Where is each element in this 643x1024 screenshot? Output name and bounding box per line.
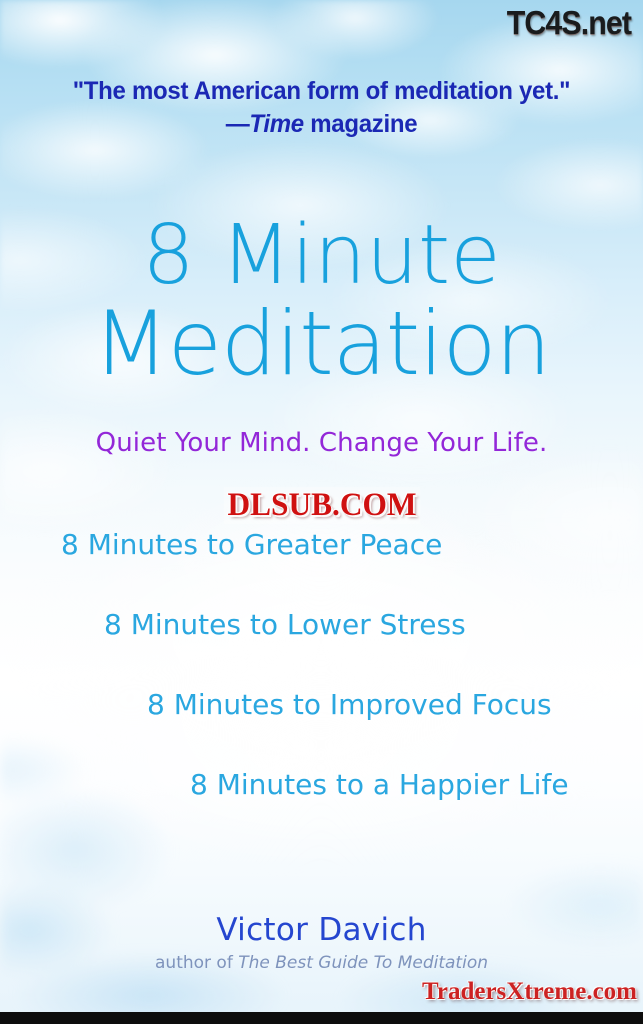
byline-book-title: The Best Guide To Meditation	[238, 953, 488, 973]
blurb-dash: —	[226, 110, 250, 138]
blurb-source-suffix: magazine	[304, 110, 417, 138]
bottom-black-bar	[0, 1012, 643, 1024]
author-byline: author of The Best Guide To Meditation	[0, 953, 643, 973]
watermark-tc4s: TC4S.net	[507, 4, 631, 42]
title-line-1: 8 Minute	[0, 212, 643, 300]
blurb-attribution: —Time magazine	[13, 109, 630, 139]
book-cover: TC4S.net "The most American form of medi…	[0, 0, 643, 1024]
book-subtitle: Quiet Your Mind. Change Your Life.	[0, 428, 643, 458]
blurb-source-time: Time	[249, 110, 303, 138]
book-title: 8 Minute Meditation	[0, 212, 643, 388]
watermark-tradersxtreme: TradersXtreme.com	[422, 978, 637, 1006]
review-blurb: "The most American form of meditation ye…	[13, 76, 630, 139]
benefit-item: 8 Minutes to Greater Peace	[0, 528, 643, 562]
benefit-item: 8 Minutes to Lower Stress	[0, 608, 643, 642]
benefits-list: 8 Minutes to Greater Peace 8 Minutes to …	[0, 528, 643, 802]
byline-prefix: author of	[155, 953, 238, 973]
blurb-quote: "The most American form of meditation ye…	[73, 77, 571, 105]
benefit-item: 8 Minutes to Improved Focus	[0, 688, 643, 722]
watermark-dlsub: DLSUB.COM	[223, 487, 420, 524]
title-line-2: Meditation	[0, 300, 643, 388]
benefit-item: 8 Minutes to a Happier Life	[0, 768, 643, 802]
author-name: Victor Davich	[0, 912, 643, 948]
